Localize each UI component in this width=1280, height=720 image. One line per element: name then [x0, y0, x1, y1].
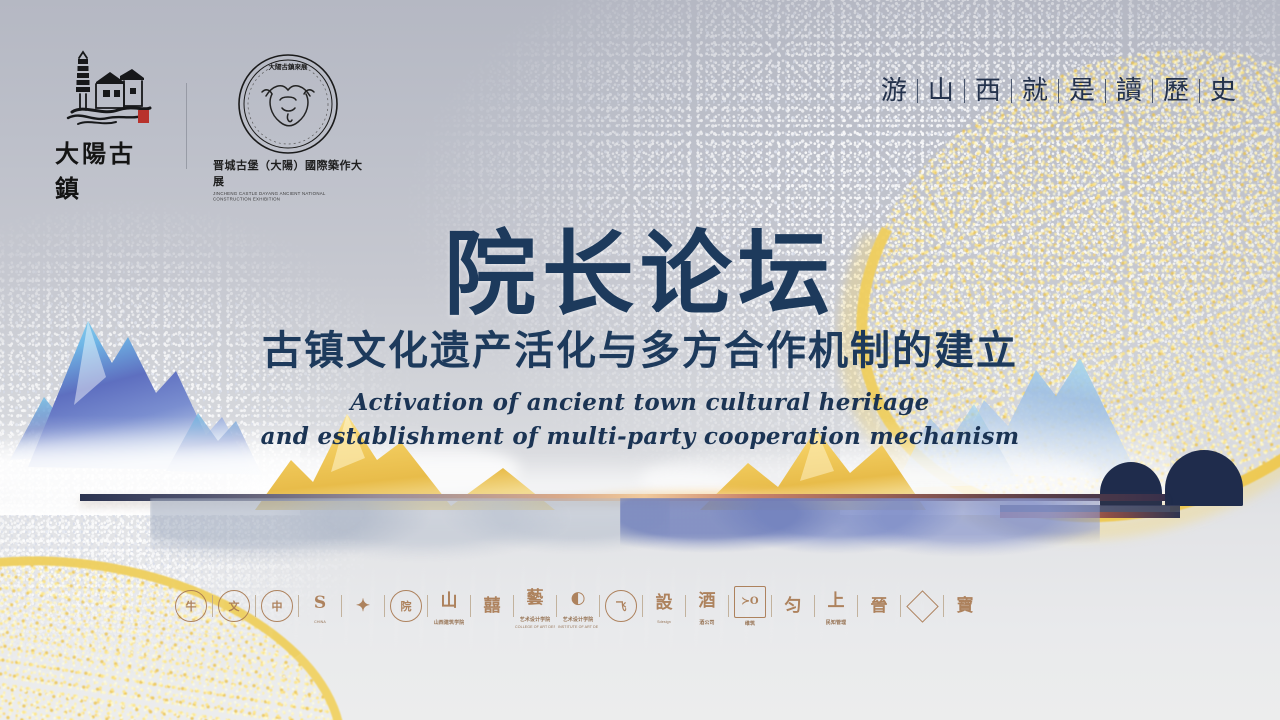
- slogan-separator: [1105, 79, 1106, 103]
- slogan-char: 是: [1069, 78, 1095, 104]
- partner-label-cn: 酒公司: [699, 619, 714, 626]
- partner-logo: 匀: [772, 582, 814, 630]
- partner-logo: 文: [213, 582, 255, 630]
- partner-logo: 上民知管理: [815, 582, 857, 630]
- partner-mark-icon: 文: [218, 590, 250, 622]
- partner-logo: 寶: [944, 582, 986, 630]
- partner-mark-icon: [906, 590, 939, 623]
- partner-mark-icon: ≻O: [734, 586, 766, 618]
- partner-label-cn: 山西建筑学院: [434, 619, 465, 626]
- partner-logo: [901, 582, 943, 630]
- partner-mark-icon: 中: [261, 590, 293, 622]
- slogan-separator: [964, 79, 965, 103]
- partner-logo: ≻O维筑: [729, 582, 771, 630]
- title-block: 院长论坛 古镇文化遗产活化与多方合作机制的建立 Activation of an…: [0, 228, 1280, 454]
- horizon-bar-glow: [560, 486, 860, 508]
- horizon-bar-secondary: [1000, 512, 1180, 518]
- partner-logo: 山山西建筑学院: [428, 582, 470, 630]
- partner-mark-icon: 上: [821, 587, 851, 617]
- exhibition-name-en: JINCHENG CASTLE DAYANG ANCIENT NATIONAL …: [213, 190, 363, 201]
- partner-logo: 藝艺术设计学院COLLEGE OF ART DESIGN: [514, 582, 556, 630]
- partner-label-cn: 维筑: [745, 620, 755, 627]
- partner-logo: 囍: [471, 582, 513, 630]
- partner-logo: SCHINA: [299, 582, 341, 630]
- slogan-separator: [917, 79, 918, 103]
- partner-mark-icon: 飞: [605, 590, 637, 622]
- brand-secondary: 大陽古鎮來展 晋城古堡（大陽）國際築作大展 JINCHENG CASTLE DA…: [213, 52, 363, 201]
- horizon-bar-secondary-edge: [1000, 505, 1180, 513]
- partner-label-en: INSTITUTE OF ART DESIGN: [558, 625, 598, 629]
- partner-label-cn: 艺术设计学院: [520, 616, 551, 623]
- partner-logo: 飞: [600, 582, 642, 630]
- partner-logo-strip: 牛文中SCHINA✦院山山西建筑学院囍藝艺术设计学院COLLEGE OF ART…: [170, 582, 1130, 630]
- slogan-char: 山: [928, 78, 954, 104]
- partner-mark-icon: 山: [434, 587, 464, 617]
- seal-top-text: 大陽古鎮來展: [269, 62, 309, 71]
- partner-logo: ✦: [342, 582, 384, 630]
- partner-mark-icon: 牛: [175, 590, 207, 622]
- slogan-separator: [1152, 79, 1153, 103]
- partner-logo: 院: [385, 582, 427, 630]
- partner-mark-icon: 院: [390, 590, 422, 622]
- partner-logo: 酒酒公司: [686, 582, 728, 630]
- partner-label-en: Sdesign: [657, 620, 671, 624]
- slogan-separator: [1199, 79, 1200, 103]
- partner-logo: 晉: [858, 582, 900, 630]
- partner-logo: ◐艺术设计学院INSTITUTE OF ART DESIGN: [557, 582, 599, 630]
- subtitle-en-line2: and establishment of multi-party coopera…: [0, 420, 1280, 454]
- partner-mark-icon: 囍: [477, 591, 507, 621]
- subtitle-en-line1: Activation of ancient town cultural heri…: [0, 386, 1280, 420]
- slogan-char: 西: [975, 78, 1001, 104]
- partner-logo: 設Sdesign: [643, 582, 685, 630]
- partner-mark-icon: 寶: [950, 591, 980, 621]
- exhibition-name-cn: 晋城古堡（大陽）國際築作大展: [213, 157, 363, 189]
- partner-label-cn: 艺术设计学院: [563, 616, 594, 623]
- header-logo-group: 大陽古鎮 大陽古鎮來展 晋城古堡（大陽）國際: [55, 48, 363, 204]
- header-divider: [186, 83, 187, 169]
- ink-splash-grey: [150, 498, 670, 590]
- partner-mark-icon: ◐: [563, 584, 593, 614]
- slogan-separator: [1011, 79, 1012, 103]
- slogan-char: 就: [1022, 78, 1048, 104]
- silver-sparkle-texture-bottom-left: [0, 430, 380, 720]
- partner-mark-icon: ✦: [348, 591, 378, 621]
- mist-band-center: [230, 455, 750, 525]
- poster-canvas: 大陽古鎮 大陽古鎮來展 晋城古堡（大陽）國際: [0, 0, 1280, 720]
- partner-mark-icon: 晉: [864, 591, 894, 621]
- page-title: 院长论坛: [0, 228, 1280, 322]
- subtitle-en: Activation of ancient town cultural heri…: [0, 386, 1280, 454]
- partner-label-en: CHINA: [314, 620, 326, 624]
- slogan-char: 史: [1210, 78, 1236, 104]
- partner-mark-icon: 酒: [692, 587, 722, 617]
- slogan-char: 游: [881, 78, 907, 104]
- navy-dome-small-icon: [1100, 462, 1162, 506]
- slogan: 游 山 西 就 是 讀 歷 史: [881, 78, 1236, 104]
- ink-splash-blue: [620, 498, 1100, 576]
- navy-dome-large-icon: [1165, 450, 1243, 506]
- subtitle-cn: 古镇文化遗产活化与多方合作机制的建立: [0, 328, 1280, 374]
- pagoda-house-ink-mark-icon: [62, 48, 154, 132]
- partner-logo: 中: [256, 582, 298, 630]
- brand-primary-name: 大陽古鎮: [55, 134, 160, 204]
- partner-mark-icon: S: [305, 588, 335, 618]
- horizon-bar: [80, 494, 1165, 501]
- partner-mark-icon: 匀: [778, 591, 808, 621]
- slogan-separator: [1058, 79, 1059, 103]
- slogan-char: 讀: [1116, 78, 1142, 104]
- partner-label-en: COLLEGE OF ART DESIGN: [515, 625, 555, 629]
- slogan-char: 歷: [1163, 78, 1189, 104]
- partner-mark-icon: 設: [649, 588, 679, 618]
- brand-primary: 大陽古鎮: [55, 48, 160, 204]
- ox-head-circular-seal-icon: 大陽古鎮來展: [236, 52, 340, 156]
- partner-logo: 牛: [170, 582, 212, 630]
- partner-label-cn: 民知管理: [826, 619, 846, 626]
- partner-mark-icon: 藝: [520, 584, 550, 614]
